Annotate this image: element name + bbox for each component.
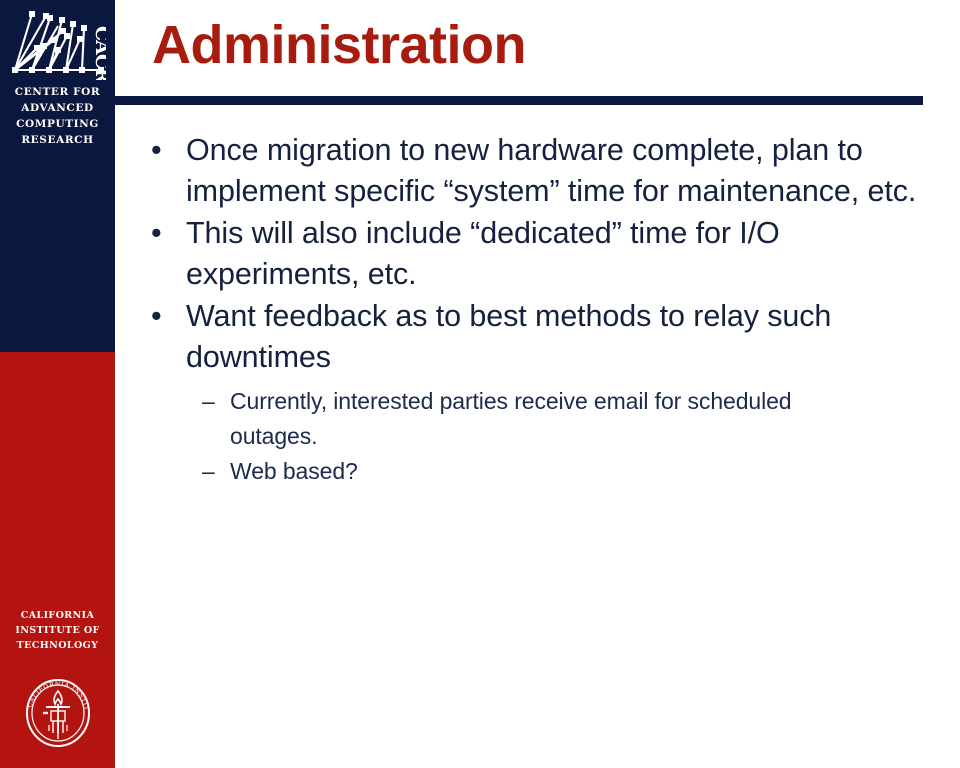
cacr-network-logo-icon: C A C R <box>10 6 106 80</box>
bullet-marker-icon: • <box>151 213 171 254</box>
dash-marker-icon: – <box>202 384 224 419</box>
bullet-text: Once migration to new hardware complete,… <box>186 130 946 212</box>
bullet-marker-icon: • <box>151 296 171 337</box>
caltech-caption-line-2: INSTITUTE OF <box>0 623 115 638</box>
bullet-item: • Once migration to new hardware complet… <box>115 130 960 212</box>
bullet-item: • This will also include “dedicated” tim… <box>115 213 960 295</box>
sub-bullet-text: Web based? <box>230 454 800 489</box>
svg-text:R: R <box>91 68 106 80</box>
bullet-text: This will also include “dedicated” time … <box>186 213 946 295</box>
sub-bullet-item: – Web based? <box>115 454 960 489</box>
cacr-caption-line-3: COMPUTING <box>0 116 115 132</box>
caltech-seal-icon: CALIFORNIA INSTITUTE OF TECHNOLOGY <box>23 673 93 753</box>
svg-text:C: C <box>91 26 106 41</box>
cacr-caption: CENTER FOR ADVANCED COMPUTING RESEARCH <box>0 84 115 148</box>
slide-canvas: C A C R CENTER FOR ADVANCED COMPUTING RE… <box>0 0 960 768</box>
svg-text:A: A <box>91 39 106 55</box>
sub-bullet-text: Currently, interested parties receive em… <box>230 384 800 454</box>
cacr-caption-line-2: ADVANCED <box>0 100 115 116</box>
caltech-caption: CALIFORNIA INSTITUTE OF TECHNOLOGY <box>0 608 115 653</box>
dash-marker-icon: – <box>202 454 224 489</box>
slide-title: Administration <box>152 14 526 76</box>
slide-body: • Once migration to new hardware complet… <box>115 130 960 489</box>
title-divider-rule <box>115 96 923 105</box>
slide-sidebar: C A C R CENTER FOR ADVANCED COMPUTING RE… <box>0 0 115 768</box>
svg-text:C: C <box>91 54 106 69</box>
caltech-caption-line-3: TECHNOLOGY <box>0 638 115 653</box>
bullet-marker-icon: • <box>151 130 171 171</box>
cacr-caption-line-4: RESEARCH <box>0 132 115 148</box>
bullet-text: Want feedback as to best methods to rela… <box>186 296 946 378</box>
bullet-item: • Want feedback as to best methods to re… <box>115 296 960 378</box>
sub-bullet-item: – Currently, interested parties receive … <box>115 384 960 454</box>
caltech-caption-line-1: CALIFORNIA <box>0 608 115 623</box>
cacr-caption-line-1: CENTER FOR <box>0 84 115 100</box>
